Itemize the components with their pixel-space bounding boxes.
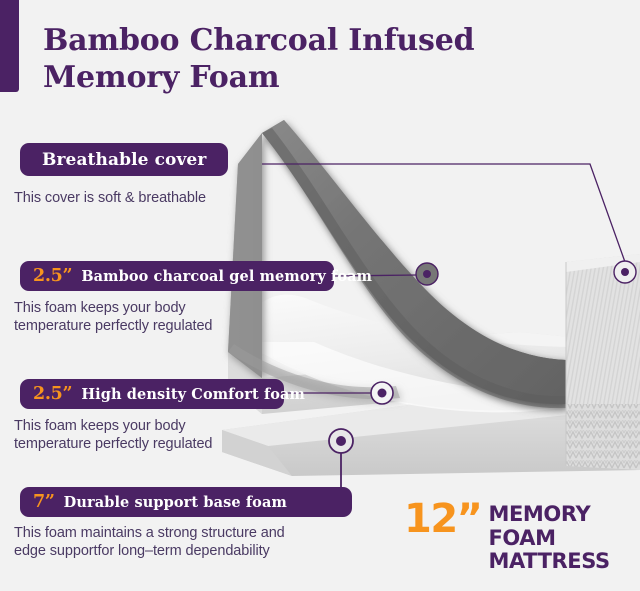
product-tag: 12” MEMORY FOAM MATTRESS bbox=[404, 500, 640, 574]
description-gel: This foam keeps your body temperature pe… bbox=[14, 300, 212, 335]
page-title-line-1: Bamboo Charcoal Infused bbox=[43, 22, 513, 59]
callout-dot-cover[interactable] bbox=[614, 261, 636, 283]
badge-label-gel: Bamboo charcoal gel memory foam bbox=[81, 268, 372, 285]
leader-line-cover bbox=[262, 164, 625, 262]
layer-fabric-cover bbox=[566, 254, 640, 470]
callout-dot-gel[interactable] bbox=[416, 263, 438, 285]
badge-size-gel: 2.5” bbox=[33, 266, 72, 286]
badge-size-comfort: 2.5” bbox=[33, 384, 72, 404]
badge-label-comfort: High density Comfort foam bbox=[81, 386, 305, 403]
product-size: 12” bbox=[404, 500, 481, 538]
description-cover: This cover is soft & breathable bbox=[14, 190, 206, 208]
product-name-line-2: MATTRESS bbox=[488, 550, 640, 574]
callout-dot-comfort[interactable] bbox=[371, 382, 393, 404]
badge-label-cover: Breathable cover bbox=[42, 150, 206, 170]
description-comfort: This foam keeps your body temperature pe… bbox=[14, 418, 212, 453]
badge-label-base: Durable support base foam bbox=[64, 494, 287, 511]
page-title-line-2: Memory Foam bbox=[43, 59, 513, 96]
description-base: This foam maintains a strong structure a… bbox=[14, 525, 285, 560]
infographic-page: Bamboo Charcoal Infused Memory Foam bbox=[0, 0, 640, 591]
badge-gel-memory-foam[interactable]: 2.5” Bamboo charcoal gel memory foam bbox=[20, 261, 334, 291]
badge-comfort-foam[interactable]: 2.5” High density Comfort foam bbox=[20, 379, 284, 409]
layer-base-foam bbox=[222, 392, 640, 476]
badge-base-foam[interactable]: 7” Durable support base foam bbox=[20, 487, 352, 517]
accent-bar bbox=[0, 0, 19, 92]
product-name: MEMORY FOAM MATTRESS bbox=[488, 500, 640, 574]
badge-breathable-cover[interactable]: Breathable cover bbox=[20, 143, 228, 176]
product-name-line-1: MEMORY FOAM bbox=[488, 503, 640, 550]
callout-dot-base[interactable] bbox=[329, 429, 353, 453]
badge-size-base: 7” bbox=[33, 492, 55, 512]
page-title: Bamboo Charcoal Infused Memory Foam bbox=[43, 22, 513, 96]
